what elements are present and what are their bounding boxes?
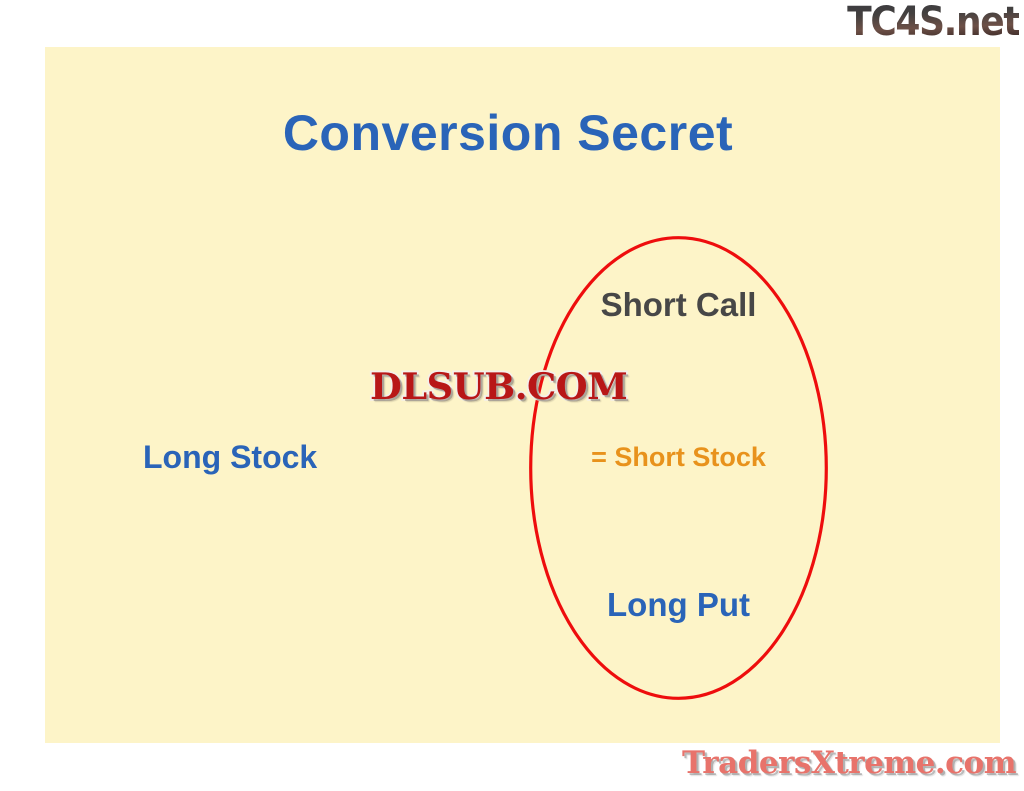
slide-root: Conversion Secret Short Call Long Stock … (0, 0, 1024, 791)
logo-tradersxtreme-com: TradersXtreme.com (682, 748, 1016, 779)
page-title: Conversion Secret (45, 108, 1000, 158)
label-short-stock: = Short Stock (527, 444, 830, 471)
logo-tc4s-net: TC4S.net (847, 2, 1019, 42)
label-long-put: Long Put (527, 588, 830, 621)
label-long-stock: Long Stock (143, 441, 317, 473)
watermark-dlsub: DLSUB.COM (370, 368, 627, 408)
label-short-call: Short Call (527, 288, 830, 321)
